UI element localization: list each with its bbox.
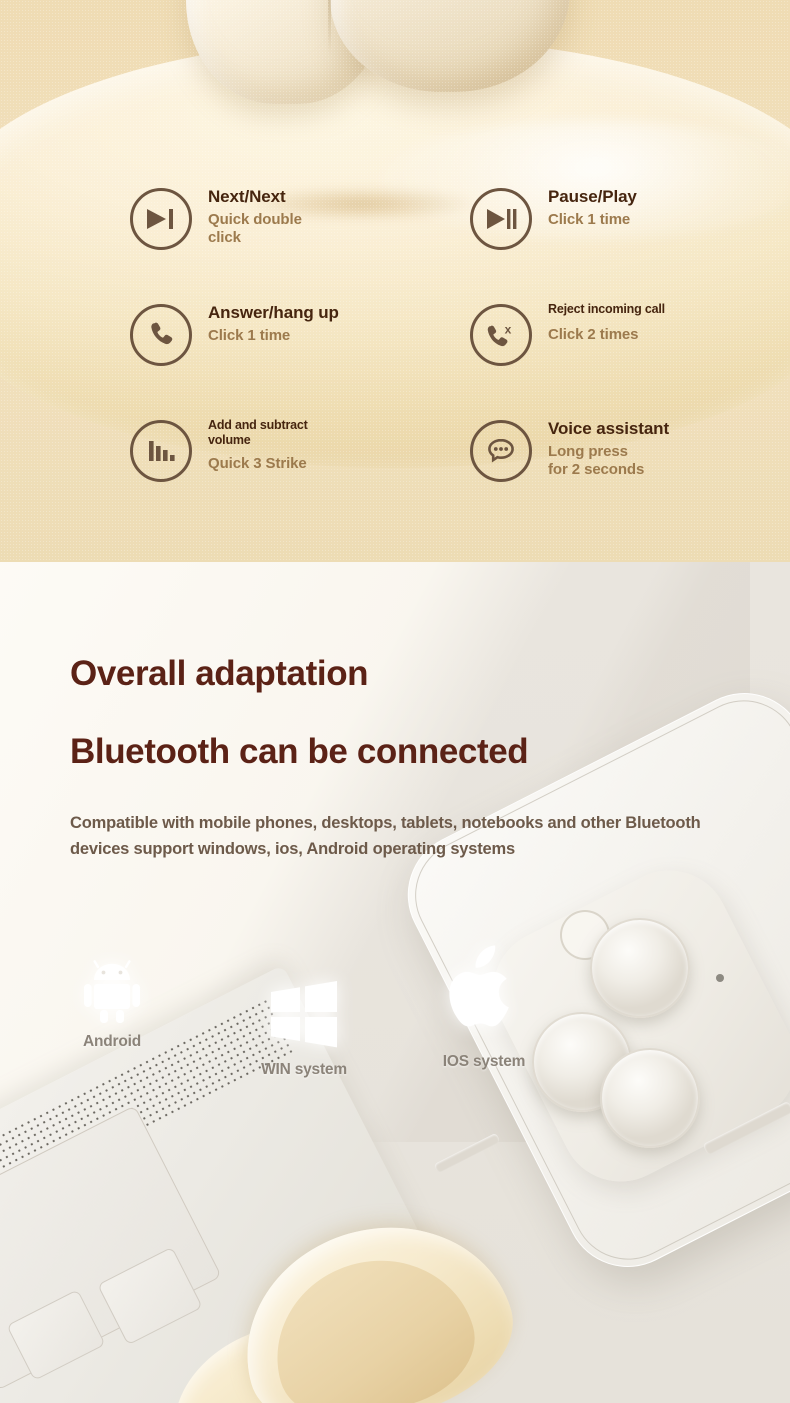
page-subtitle: Bluetooth can be connected [70,734,710,769]
control-text-pause-play: Pause/Play Click 1 time [548,186,637,229]
control-title: Reject incoming call [548,302,665,317]
windows-logo-icon [267,1035,341,1052]
control-text-reject: Reject incoming call Click 2 times [548,302,665,344]
play-pause-icon [470,188,532,250]
control-subtitle: Click 1 time [208,327,339,345]
adaptation-text-block: Overall adaptation Bluetooth can be conn… [70,656,710,862]
next-track-icon [130,188,192,250]
phone-reject-icon: x [470,304,532,366]
control-subtitle: Click 1 time [548,211,637,229]
page-title: Overall adaptation [70,656,710,691]
os-support-row: Android WIN system [0,958,790,1078]
control-item-answer: Answer/hang up Click 1 time [130,302,470,418]
android-logo-icon [81,1011,143,1028]
control-subtitle: Click 2 times [548,326,665,344]
voice-assistant-icon [470,420,532,482]
volume-bars-icon [130,420,192,482]
compatibility-paragraph: Compatible with mobile phones, desktops,… [70,811,710,862]
os-label: WIN system [246,1061,362,1079]
touch-controls-section: Next/Next Quick double click Pause/Play … [0,0,790,562]
control-text-volume: Add and subtract volume Quick 3 Strike [208,418,308,473]
control-title: Next/Next [208,187,302,207]
control-item-next: Next/Next Quick double click [130,186,470,302]
phone-answer-icon [130,304,192,366]
control-subtitle: Long press for 2 seconds [548,443,669,480]
os-item-windows: WIN system [246,980,362,1079]
touch-controls-grid: Next/Next Quick double click Pause/Play … [0,186,790,528]
control-text-next: Next/Next Quick double click [208,186,302,247]
control-title: Add and subtract volume [208,418,308,448]
control-item-pause-play: Pause/Play Click 1 time [470,186,790,302]
control-item-volume: Add and subtract volume Quick 3 Strike [130,418,470,528]
control-item-reject: x Reject incoming call Click 2 times [470,302,790,418]
control-subtitle: Quick 3 Strike [208,455,308,473]
adaptation-section: Overall adaptation Bluetooth can be conn… [0,562,790,1403]
control-title: Voice assistant [548,419,669,439]
svg-text:x: x [505,323,512,337]
control-text-answer: Answer/hang up Click 1 time [208,302,339,345]
os-item-ios: IOS system [424,944,544,1071]
os-item-android: Android [62,958,162,1051]
apple-logo-icon [446,1021,522,1038]
os-label: IOS system [424,1053,544,1071]
control-item-voice-assistant: Voice assistant Long press for 2 seconds [470,418,790,528]
earbud-seam [328,0,331,54]
os-label: Android [62,1033,162,1051]
product-detail-page: Next/Next Quick double click Pause/Play … [0,0,790,1403]
control-title: Answer/hang up [208,303,339,323]
control-title: Pause/Play [548,187,637,207]
control-text-voice-assistant: Voice assistant Long press for 2 seconds [548,418,669,479]
control-subtitle: Quick double click [208,211,302,248]
